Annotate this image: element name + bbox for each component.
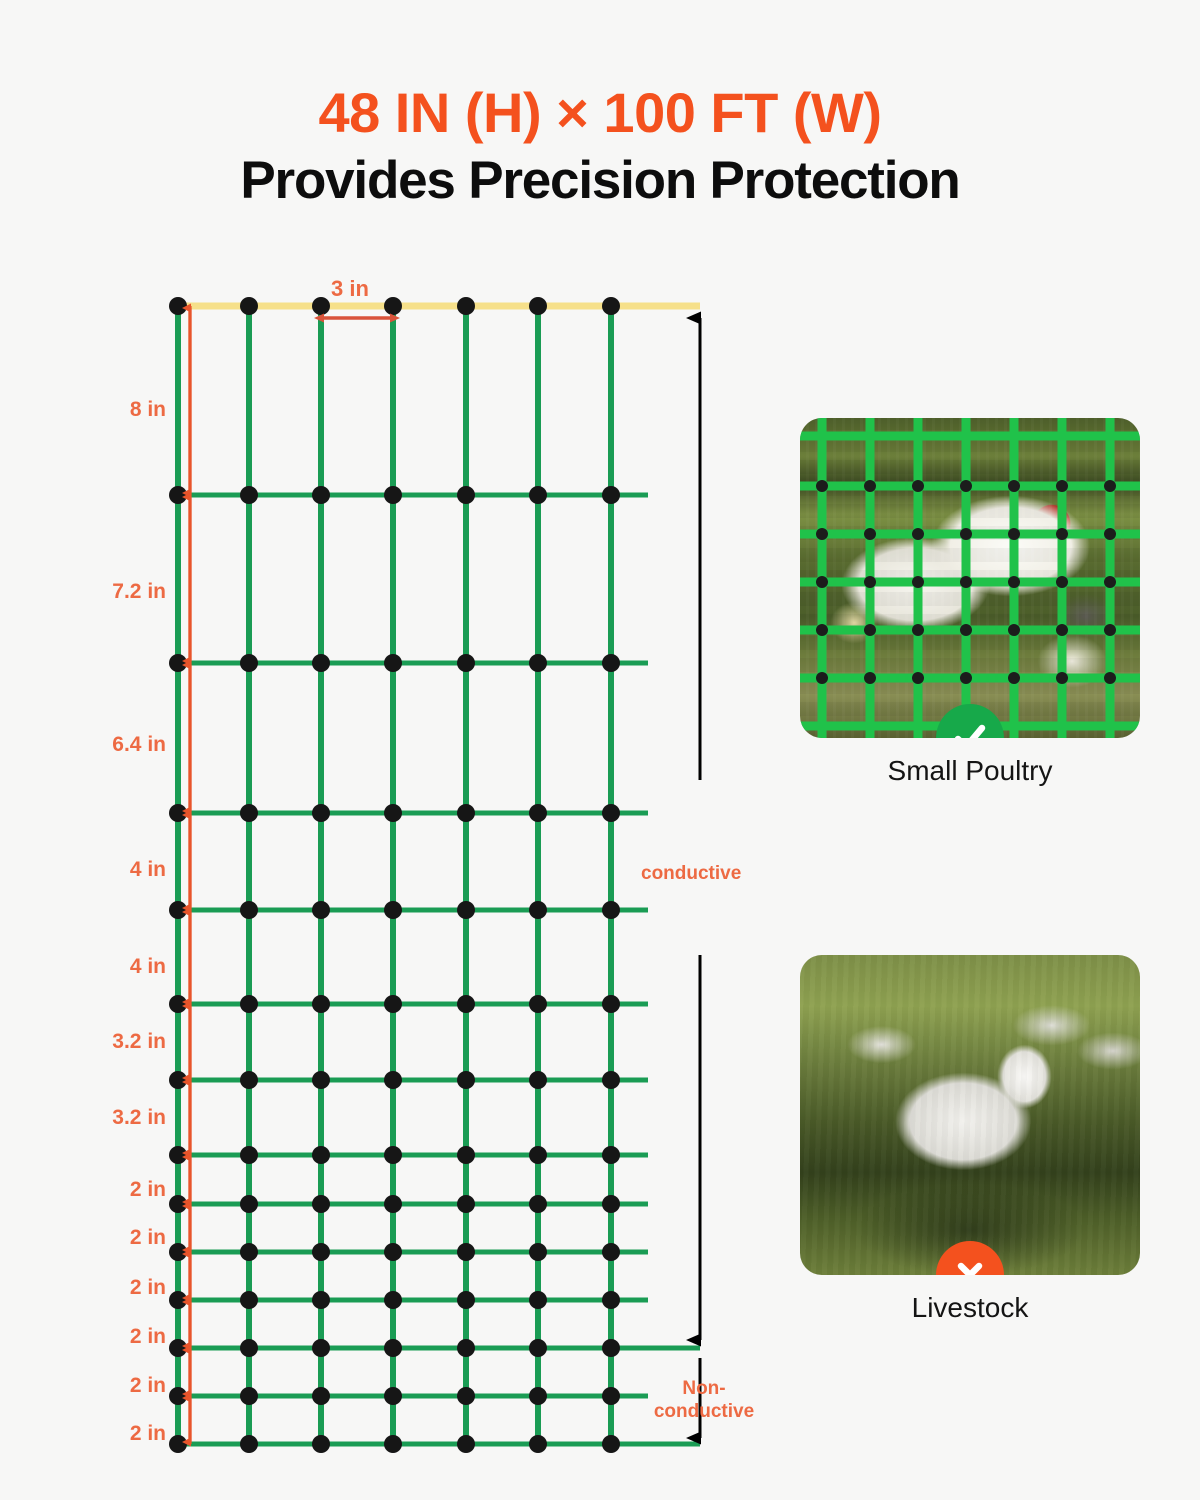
card-caption-livestock: Livestock bbox=[800, 1292, 1140, 1324]
nonconductive-zone-label-line1: Non- bbox=[634, 1378, 774, 1401]
spacing-label-2in-c: 2 in bbox=[56, 1276, 166, 1300]
spacing-label-6-4in: 6.4 in bbox=[56, 733, 166, 757]
spacing-label-3-2in-b: 3.2 in bbox=[56, 1106, 166, 1130]
spacing-label-8in: 8 in bbox=[56, 398, 166, 422]
spacing-label-2in-a: 2 in bbox=[56, 1178, 166, 1202]
conductive-zone-label: conductive bbox=[641, 863, 741, 886]
nonconductive-zone-label-line2: conductive bbox=[634, 1401, 774, 1424]
spacing-label-3-2in-a: 3.2 in bbox=[56, 1030, 166, 1054]
netting-spacing-diagram: 3 in 8 in 7.2 in 6.4 in 4 in 4 in 3.2 in… bbox=[0, 0, 760, 1500]
spacing-label-7-2in: 7.2 in bbox=[56, 580, 166, 604]
spacing-label-2in-b: 2 in bbox=[56, 1226, 166, 1250]
poultry-photo bbox=[800, 418, 1140, 738]
sheep-photo-scene bbox=[800, 955, 1140, 1275]
poultry-photo-mesh-overlay bbox=[800, 418, 1140, 738]
spacing-label-2in-d: 2 in bbox=[56, 1325, 166, 1349]
card-livestock: Livestock bbox=[800, 955, 1140, 1324]
card-small-poultry: Small Poultry bbox=[800, 418, 1140, 787]
cross-glyph bbox=[950, 1255, 990, 1275]
card-caption-small-poultry: Small Poultry bbox=[800, 755, 1140, 787]
spacing-label-4in-b: 4 in bbox=[56, 955, 166, 979]
spacing-label-2in-f: 2 in bbox=[56, 1422, 166, 1446]
spacing-label-2in-e: 2 in bbox=[56, 1374, 166, 1398]
spacing-label-4in-a: 4 in bbox=[56, 858, 166, 882]
nonconductive-zone-label: Non- conductive bbox=[634, 1378, 774, 1424]
horizontal-spacing-label: 3 in bbox=[331, 276, 369, 302]
livestock-photo bbox=[800, 955, 1140, 1275]
check-glyph bbox=[950, 718, 990, 738]
vertical-posts bbox=[178, 306, 611, 1444]
